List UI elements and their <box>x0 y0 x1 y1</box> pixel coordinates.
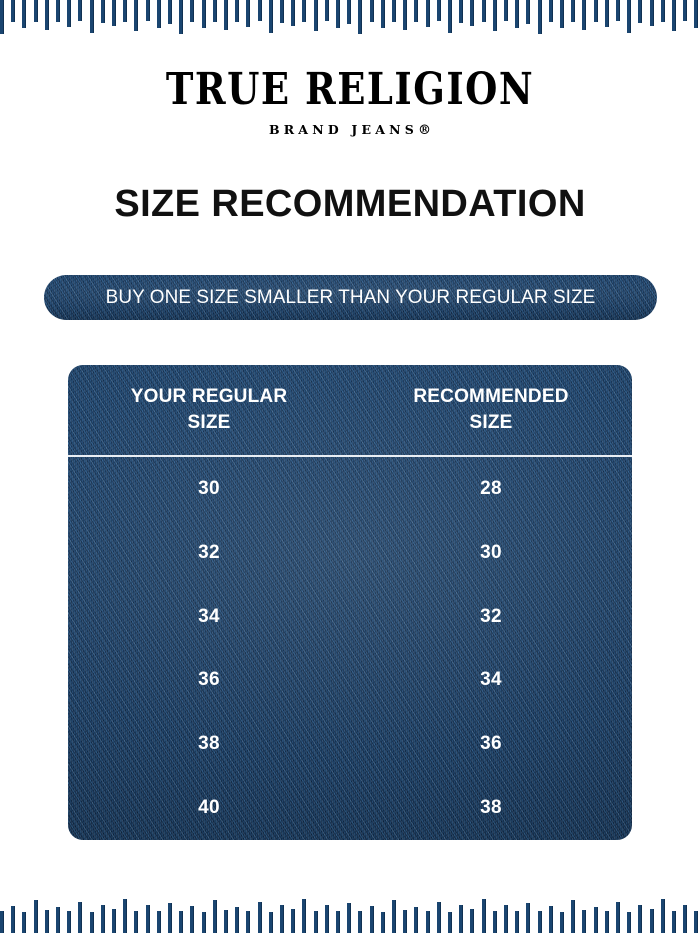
ruler-tick <box>302 0 306 22</box>
brand-logo: TRUE RELIGION BRAND JEANS® <box>0 74 700 137</box>
ruler-tick <box>358 0 362 34</box>
ruler-tick <box>493 911 497 933</box>
ruler-tick <box>538 0 542 34</box>
ruler-tick <box>0 0 4 34</box>
ruler-tick <box>90 912 94 933</box>
cell-recommended-size: 30 <box>350 542 632 564</box>
ruler-tick <box>325 0 329 21</box>
ruler-tick <box>526 903 530 933</box>
ruler-tick <box>638 905 642 933</box>
ruler-tick <box>112 0 116 26</box>
ruler-tick <box>571 0 575 22</box>
ruler-tick <box>627 0 631 33</box>
ruler-tick <box>627 912 631 933</box>
table-row: 32 30 <box>68 521 632 585</box>
ruler-tick <box>11 0 15 22</box>
ruler-tick <box>661 899 665 933</box>
ruler-tick <box>269 0 273 33</box>
table-row: 30 28 <box>68 457 632 521</box>
ruler-tick <box>235 907 239 933</box>
ruler-tick <box>90 0 94 33</box>
ruler-tick <box>638 0 642 23</box>
ruler-tick <box>56 0 60 22</box>
ruler-tick <box>101 905 105 933</box>
ruler-tick <box>157 911 161 933</box>
ruler-tick <box>67 0 71 27</box>
ruler-tick <box>179 0 183 34</box>
ruler-tick <box>123 0 127 22</box>
table-row: 34 32 <box>68 585 632 649</box>
ruler-tick <box>302 899 306 933</box>
ruler-tick <box>146 905 150 933</box>
cell-recommended-size: 32 <box>350 606 632 628</box>
ruler-tick <box>146 0 150 21</box>
size-recommendation-table: YOUR REGULAR SIZE RECOMMENDED SIZE 30 28… <box>68 365 632 840</box>
ruler-tick <box>213 0 217 22</box>
ruler-tick <box>582 0 586 30</box>
ruler-tick <box>0 911 4 933</box>
ruler-tick <box>314 0 318 31</box>
ruler-tick <box>482 0 486 22</box>
ruler-tick <box>605 0 609 27</box>
table-row: 36 34 <box>68 648 632 712</box>
ruler-tick <box>224 910 228 933</box>
ruler-tick <box>538 911 542 933</box>
ruler-tick <box>414 907 418 933</box>
ruler-tick <box>560 0 564 28</box>
ruler-tick <box>291 0 295 26</box>
ruler-tick <box>34 900 38 933</box>
ruler-tick <box>291 909 295 933</box>
ruler-tick <box>112 909 116 933</box>
page-title: SIZE RECOMMENDATION <box>0 183 700 227</box>
ruler-tick <box>571 900 575 933</box>
ruler-tick <box>650 909 654 933</box>
ruler-tick <box>392 900 396 933</box>
ruler-tick <box>56 907 60 933</box>
table-row: 38 36 <box>68 712 632 776</box>
ruler-tick <box>202 912 206 933</box>
ruler-tick <box>560 912 564 933</box>
ruler-tick <box>336 911 340 933</box>
ruler-tick <box>526 0 530 24</box>
ruler-tick <box>134 911 138 933</box>
ruler-tick <box>459 0 463 23</box>
ruler-tick <box>22 0 26 28</box>
ruler-tick <box>470 909 474 933</box>
ruler-tick <box>179 911 183 933</box>
ruler-tick <box>426 911 430 933</box>
ruler-tick <box>190 906 194 933</box>
ruler-tick <box>336 0 340 28</box>
column-header-your-regular-size: YOUR REGULAR SIZE <box>68 384 350 436</box>
ruler-tick <box>504 905 508 933</box>
cell-recommended-size: 34 <box>350 669 632 691</box>
ruler-tick <box>370 0 374 22</box>
ruler-tick <box>392 0 396 22</box>
ruler-tick <box>381 0 385 28</box>
cell-regular-size: 40 <box>68 797 350 819</box>
column-header-line-1: YOUR REGULAR <box>68 384 350 410</box>
ruler-tick <box>202 0 206 28</box>
ruler-tick <box>168 903 172 933</box>
ruler-tick <box>672 911 676 933</box>
ruler-tick <box>594 0 598 22</box>
ruler-tick <box>134 0 138 31</box>
brand-logo-tagline: BRAND JEANS® <box>0 124 700 137</box>
cell-regular-size: 34 <box>68 606 350 628</box>
ruler-tick <box>157 0 161 28</box>
ruler-tick <box>213 900 217 933</box>
ruler-tick <box>694 0 698 28</box>
ruler-tick <box>370 906 374 933</box>
ruler-tick <box>448 0 452 33</box>
ruler-tick <box>45 0 49 30</box>
ruler-tick <box>616 902 620 933</box>
ruler-tick <box>672 0 676 31</box>
table-row: 40 38 <box>68 776 632 840</box>
ruler-tick <box>325 905 329 933</box>
ruler-tick <box>616 0 620 21</box>
column-header-line-1: RECOMMENDED <box>350 384 632 410</box>
ruler-tick <box>78 902 82 933</box>
cell-regular-size: 38 <box>68 733 350 755</box>
ruler-tick <box>258 0 262 21</box>
ruler-tick <box>650 0 654 26</box>
ruler-tick <box>549 906 553 933</box>
advice-banner: BUY ONE SIZE SMALLER THAN YOUR REGULAR S… <box>44 275 657 320</box>
ruler-tick <box>493 0 497 31</box>
ruler-tick <box>190 0 194 22</box>
ruler-tick <box>470 0 474 26</box>
brand-logo-wordmark: TRUE RELIGION <box>166 67 534 111</box>
ruler-tick-border-bottom <box>0 893 700 933</box>
ruler-tick <box>683 905 687 933</box>
ruler-tick <box>504 0 508 21</box>
ruler-tick <box>482 899 486 933</box>
ruler-tick <box>168 0 172 24</box>
column-header-recommended-size: RECOMMENDED SIZE <box>350 384 632 436</box>
ruler-tick <box>605 911 609 933</box>
column-header-line-2: SIZE <box>350 410 632 436</box>
cell-regular-size: 36 <box>68 669 350 691</box>
ruler-tick <box>426 0 430 27</box>
cell-regular-size: 32 <box>68 542 350 564</box>
ruler-tick <box>549 0 553 22</box>
ruler-tick <box>123 899 127 933</box>
ruler-tick <box>515 911 519 933</box>
ruler-tick <box>437 0 441 21</box>
ruler-tick <box>235 0 239 22</box>
registered-trademark-icon: ® <box>418 123 431 138</box>
ruler-tick <box>246 0 250 27</box>
ruler-tick <box>224 0 228 30</box>
ruler-tick <box>515 0 519 28</box>
ruler-tick <box>403 0 407 30</box>
cell-recommended-size: 36 <box>350 733 632 755</box>
ruler-tick <box>34 0 38 22</box>
ruler-tick <box>45 910 49 933</box>
ruler-tick <box>258 902 262 933</box>
ruler-tick <box>67 911 71 933</box>
cell-recommended-size: 28 <box>350 478 632 500</box>
ruler-tick <box>694 911 698 933</box>
cell-recommended-size: 38 <box>350 797 632 819</box>
ruler-tick <box>269 912 273 933</box>
column-header-line-2: SIZE <box>68 410 350 436</box>
ruler-tick <box>358 911 362 933</box>
ruler-tick <box>448 912 452 933</box>
ruler-tick <box>594 907 598 933</box>
ruler-tick <box>582 910 586 933</box>
ruler-tick <box>459 905 463 933</box>
table-header-row: YOUR REGULAR SIZE RECOMMENDED SIZE <box>68 365 632 455</box>
advice-banner-label: BUY ONE SIZE SMALLER THAN YOUR REGULAR S… <box>53 275 648 320</box>
ruler-tick <box>661 0 665 22</box>
ruler-tick <box>280 0 284 23</box>
ruler-tick-border-top <box>0 0 700 40</box>
ruler-tick <box>414 0 418 22</box>
ruler-tick <box>403 910 407 933</box>
ruler-tick <box>347 0 351 24</box>
ruler-tick <box>11 906 15 933</box>
ruler-tick <box>437 902 441 933</box>
ruler-tick <box>683 0 687 21</box>
ruler-tick <box>381 912 385 933</box>
brand-logo-tagline-text: BRAND JEANS <box>269 122 418 137</box>
table-body: 30 28 32 30 34 32 36 34 38 36 40 38 <box>68 457 632 840</box>
ruler-tick <box>78 0 82 21</box>
ruler-tick <box>22 912 26 933</box>
ruler-tick <box>280 905 284 933</box>
ruler-tick <box>314 911 318 933</box>
ruler-tick <box>347 903 351 933</box>
ruler-tick <box>246 911 250 933</box>
ruler-tick <box>101 0 105 23</box>
cell-regular-size: 30 <box>68 478 350 500</box>
